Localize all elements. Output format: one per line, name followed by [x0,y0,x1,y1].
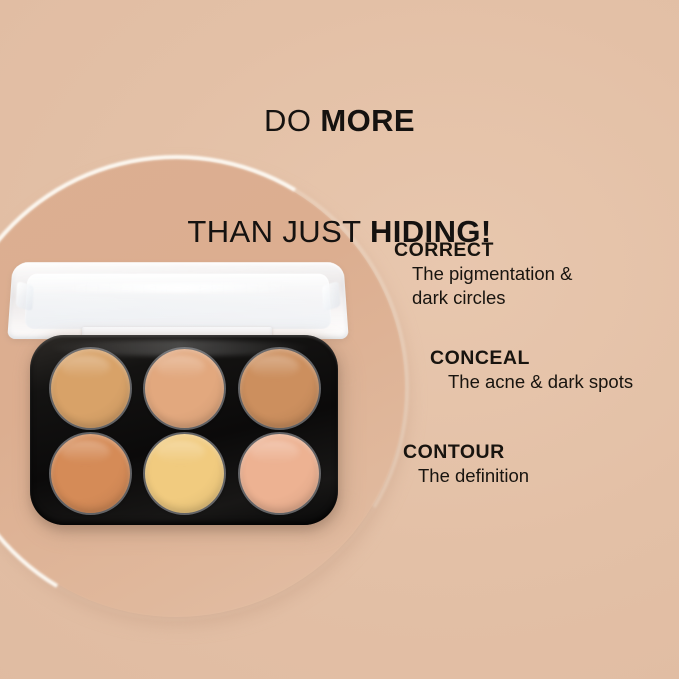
benefit-contour: CONTOUR The definition [390,440,679,488]
pan-5-banana-yellow [145,434,224,513]
benefit-correct: CORRECT The pigmentation & dark circles [390,238,679,310]
pan-1-golden-tan [51,349,130,428]
pan-cell [46,433,135,514]
concealer-palette [0,255,360,545]
pan-4-warm-amber [51,434,130,513]
headline-line-1-plain: DO [264,103,320,138]
pan-6-light-peach [240,434,319,513]
benefit-conceal-title: CONCEAL [430,346,679,370]
benefit-conceal: CONCEAL The acne & dark spots [390,346,679,394]
promo-image: DO MORE THAN JUST HIDING! [0,0,679,679]
benefit-contour-title: CONTOUR [403,440,679,464]
pan-cell [141,348,230,429]
pan-cell [235,433,324,514]
headline-line-1-bold: MORE [320,103,415,138]
benefit-correct-title: CORRECT [394,238,679,262]
benefit-contour-desc: The definition [418,464,679,488]
palette-pan-grid [46,348,324,514]
palette-lid-sheen [62,283,293,292]
pan-cell [141,433,230,514]
palette-lid-right-bevel [322,281,340,311]
palette-lid-inner-panel [24,274,332,329]
pan-2-peach-beige [145,349,224,428]
palette-lid-left-bevel [16,281,34,311]
benefit-correct-desc: The pigmentation & dark circles [412,262,679,310]
pan-cell [46,348,135,429]
pan-3-caramel [240,349,319,428]
benefit-conceal-desc: The acne & dark spots [448,370,679,394]
headline-line-2-plain: THAN JUST [187,214,370,249]
benefit-list: CORRECT The pigmentation & dark circles … [390,238,679,488]
headline-line-1: DO MORE [0,102,679,139]
pan-cell [235,348,324,429]
